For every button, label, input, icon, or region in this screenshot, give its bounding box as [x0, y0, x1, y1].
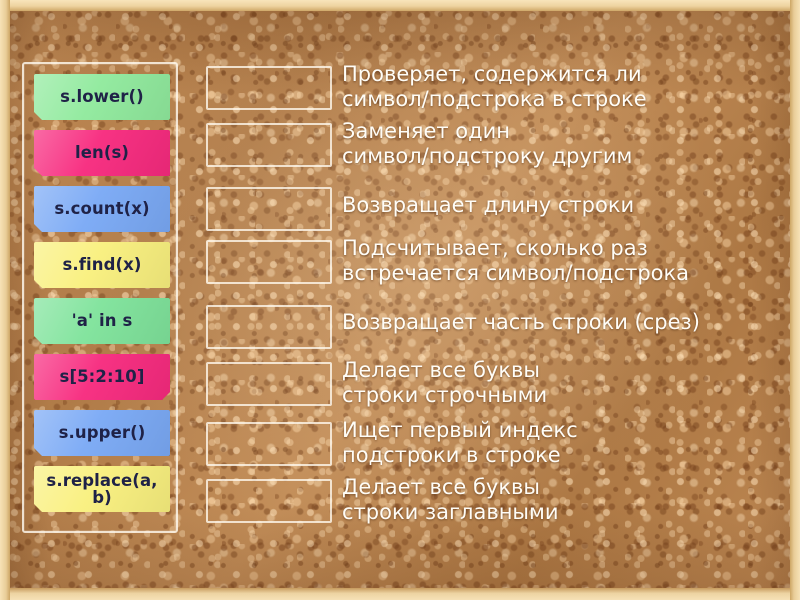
- drop-zone[interactable]: [206, 305, 332, 349]
- tile-label: s.replace(a, b): [34, 472, 170, 507]
- frame-top-edge: [0, 0, 800, 11]
- tile-label: len(s): [75, 144, 129, 161]
- tile-label: s.count(x): [54, 200, 149, 217]
- draggable-tile[interactable]: s.count(x): [34, 186, 170, 232]
- drop-zone[interactable]: [206, 422, 332, 466]
- drop-zone[interactable]: [206, 479, 332, 523]
- drop-zone[interactable]: [206, 123, 332, 167]
- drop-zone[interactable]: [206, 187, 332, 231]
- definition-text: Возвращает длину строки: [342, 193, 634, 218]
- draggable-tile[interactable]: s.replace(a, b): [34, 466, 170, 512]
- drop-zone[interactable]: [206, 240, 332, 284]
- tile-source-panel: s.lower()len(s)s.count(x)s.find(x)'a' in…: [22, 62, 178, 533]
- definition-text: Проверяет, содержится ли символ/подстрок…: [342, 62, 647, 112]
- drop-zone[interactable]: [206, 66, 332, 110]
- draggable-tile[interactable]: s.upper(): [34, 410, 170, 456]
- frame-bottom-edge: [0, 588, 800, 600]
- tile-label: s.lower(): [60, 88, 144, 105]
- definition-text: Заменяет один символ/подстроку другим: [342, 119, 632, 169]
- draggable-tile[interactable]: s.find(x): [34, 242, 170, 288]
- tile-label: s.upper(): [59, 424, 146, 441]
- frame-left-edge: [0, 0, 10, 600]
- draggable-tile[interactable]: s.lower(): [34, 74, 170, 120]
- definition-text: Делает все буквы строки заглавными: [342, 475, 559, 525]
- draggable-tile[interactable]: s[5:2:10]: [34, 354, 170, 400]
- frame-right-edge: [790, 0, 800, 600]
- tile-label: s[5:2:10]: [60, 368, 145, 385]
- drop-zone[interactable]: [206, 362, 332, 406]
- draggable-tile[interactable]: 'a' in s: [34, 298, 170, 344]
- definition-text: Возвращает часть строки (срез): [342, 310, 700, 335]
- definition-text: Делает все буквы строки строчными: [342, 358, 547, 408]
- tile-label: s.find(x): [62, 256, 141, 273]
- match-up-board: s.lower()len(s)s.count(x)s.find(x)'a' in…: [0, 0, 800, 600]
- definition-text: Ищет первый индекс подстроки в строке: [342, 418, 578, 468]
- tile-label: 'a' in s: [72, 312, 133, 329]
- definition-text: Подсчитывает, сколько раз встречается си…: [342, 236, 689, 286]
- draggable-tile[interactable]: len(s): [34, 130, 170, 176]
